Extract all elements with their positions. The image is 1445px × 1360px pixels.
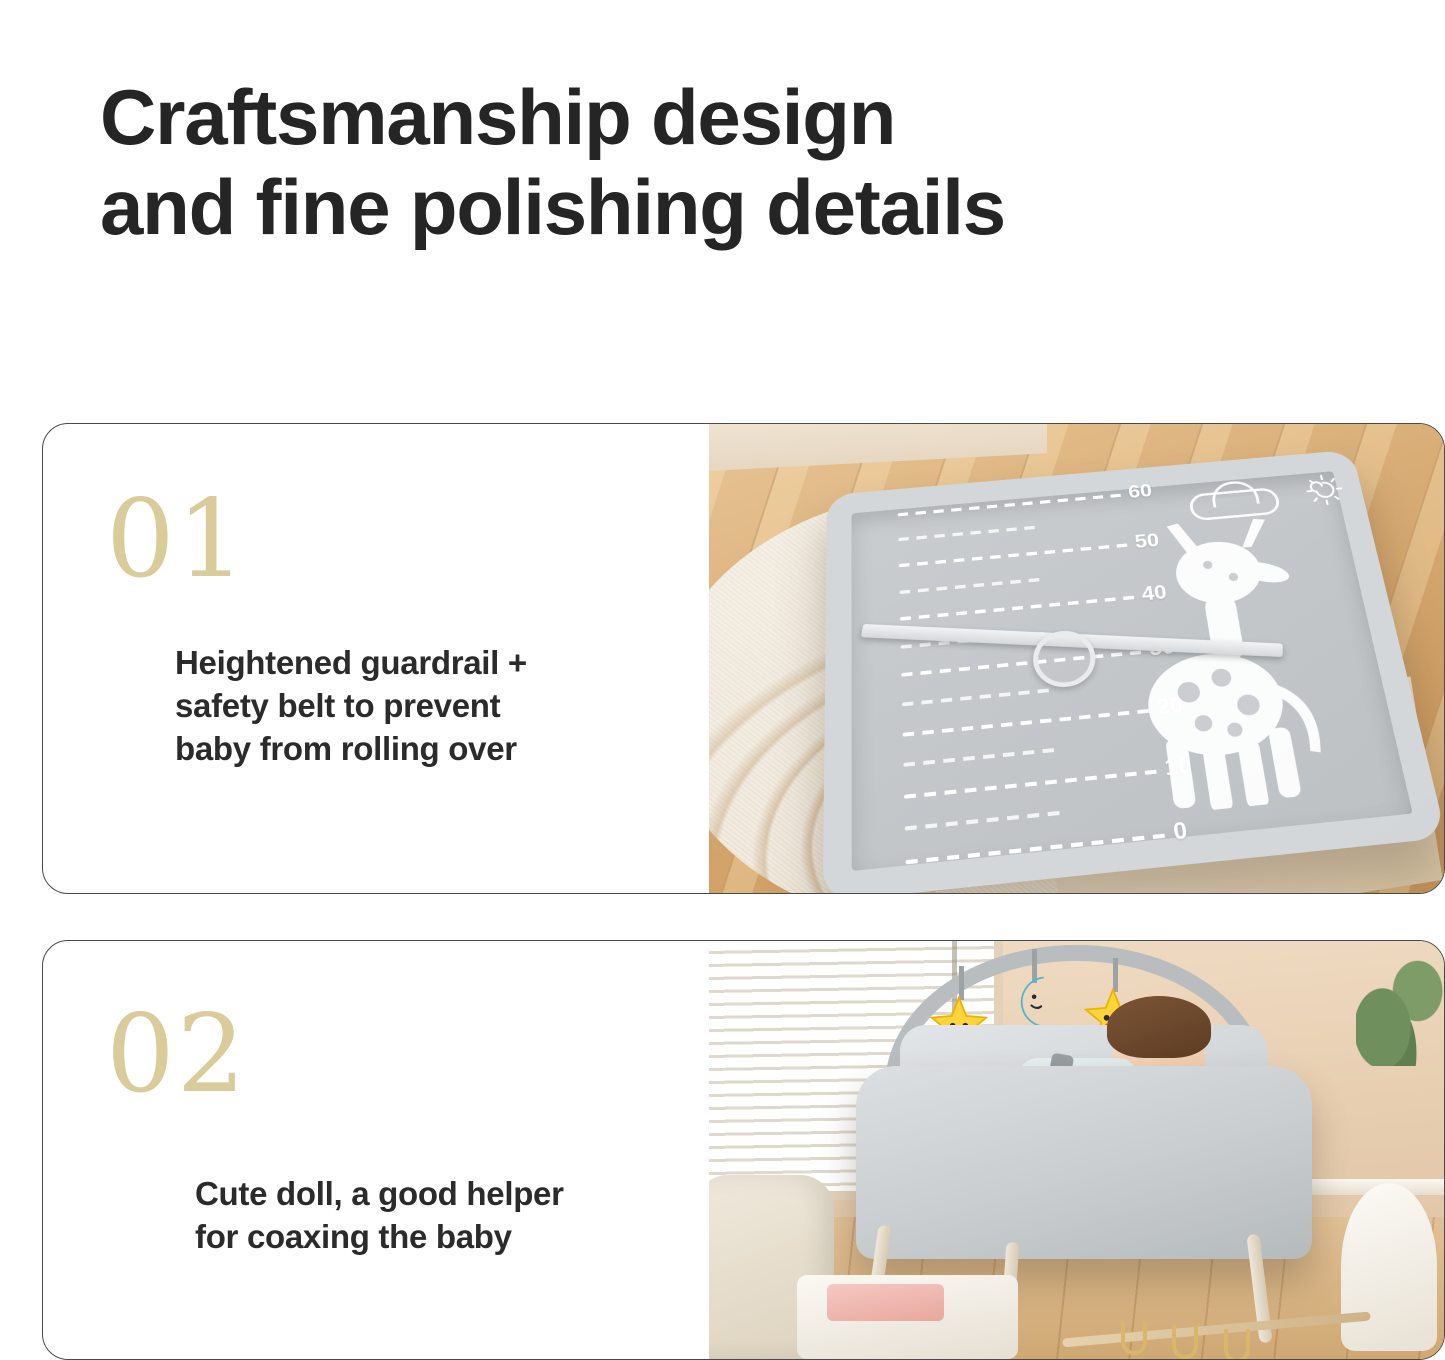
feature-card-01-text: 01 Heightened guardrail + safety belt to… [43, 424, 709, 893]
feature-card-01: 01 Heightened guardrail + safety belt to… [42, 423, 1445, 894]
feature-number-01: 01 [106, 486, 247, 594]
feature-card-02: 02 Cute doll, a good helper for coaxing … [42, 940, 1445, 1360]
ruler-tick-minor [901, 688, 1053, 706]
page-title: Craftsmanship design and fine polishing … [100, 72, 1360, 253]
ruler-tick-minor [902, 748, 1058, 767]
feature-card-02-text: 02 Cute doll, a good helper for coaxing … [43, 941, 709, 1359]
ruler-tick-minor [897, 526, 1039, 542]
ruler-label: 0 [1171, 817, 1189, 846]
changing-pad: 0102030405060 [822, 450, 1444, 893]
feature-title-01: Heightened guardrail + safety belt to pr… [175, 642, 695, 771]
feature-photo-01: 0102030405060 [709, 424, 1444, 893]
feature-title-02: Cute doll, a good helper for coaxing the… [195, 1173, 725, 1259]
feature-number-02: 02 [106, 1001, 247, 1109]
sun-graphic [1299, 471, 1349, 510]
storage-bin [827, 1284, 945, 1322]
baby-hair [1107, 996, 1211, 1058]
clothes-hanger [1224, 1329, 1250, 1359]
feature-photo-02 [709, 941, 1444, 1359]
blue-moon-toy [1010, 974, 1060, 1030]
ruler-tick-minor [904, 811, 1065, 831]
clothes-hanger [1121, 1321, 1147, 1355]
floor-lamp [1341, 1183, 1437, 1350]
ruler-label: 60 [1126, 480, 1152, 503]
house-plant [1356, 941, 1444, 1066]
clothes-hanger [1172, 1325, 1198, 1359]
ruler-tick-minor [899, 578, 1044, 595]
changing-table [856, 1066, 1312, 1258]
